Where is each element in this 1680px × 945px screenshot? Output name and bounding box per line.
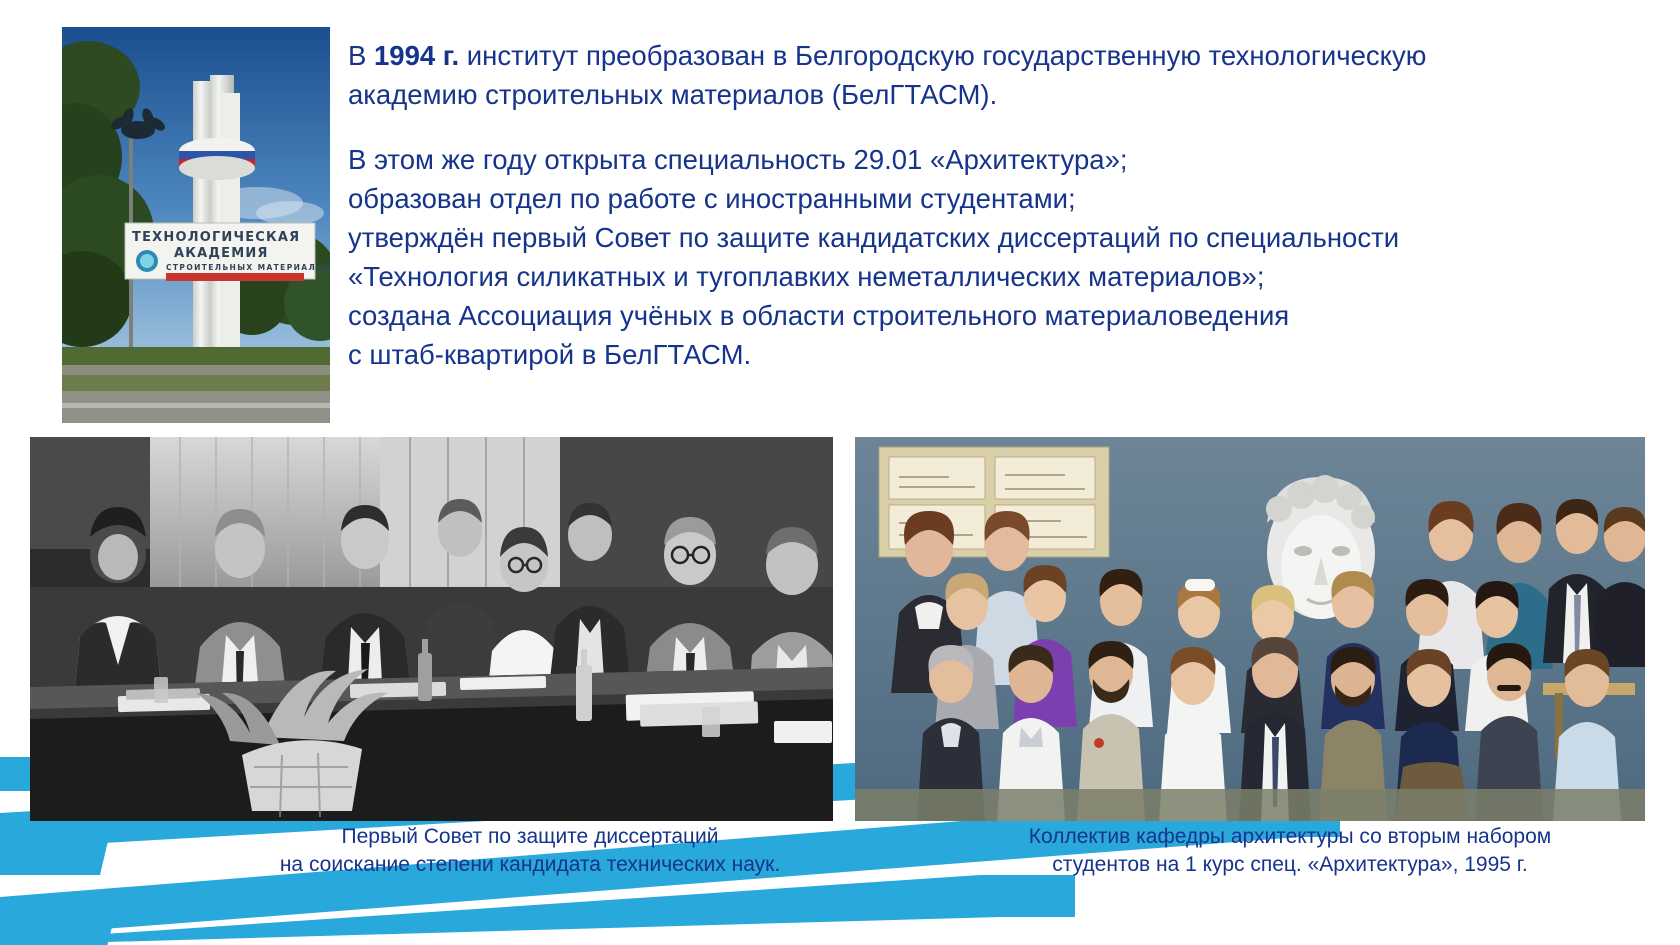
- photo-faculty: [855, 437, 1645, 821]
- ribbon-stub-3: [0, 927, 112, 945]
- caption-faculty-line-2: студентов на 1 курс спец. «Архитектура»,…: [940, 851, 1640, 879]
- caption-council-line-2: на соискание степени кандидата техническ…: [220, 851, 840, 879]
- caption-photo-council: Первый Совет по защите диссертаций на со…: [220, 823, 840, 879]
- paragraph-2-line-3: утверждён первый Совет по защите кандида…: [348, 218, 1648, 257]
- paragraph-1-line-1-rest: институт преобразован в Белгородскую гос…: [459, 40, 1426, 71]
- caption-council-line-1: Первый Совет по защите диссертаций: [220, 823, 840, 851]
- svg-text:АКАДЕМИЯ: АКАДЕМИЯ: [174, 246, 269, 261]
- caption-photo-faculty: Коллектив кафедры архитектуры со вторым …: [940, 823, 1640, 879]
- paragraph-1-prefix: В: [348, 40, 374, 71]
- svg-text:СТРОИТЕЛЬНЫХ МАТЕРИАЛОВ: СТРОИТЕЛЬНЫХ МАТЕРИАЛОВ: [166, 263, 330, 272]
- paragraph-2-line-1: В этом же году открыта специальность 29.…: [348, 140, 1648, 179]
- slide-body-text: В 1994 г. институт преобразован в Белгор…: [348, 36, 1648, 374]
- paragraph-2: В этом же году открыта специальность 29.…: [348, 140, 1648, 374]
- photo-monument: ТЕХНОЛОГИЧЕСКАЯ АКАДЕМИЯ СТРОИТЕЛЬНЫХ МА…: [62, 27, 330, 423]
- photo-council: [30, 437, 833, 821]
- ribbon-stub-2: [0, 841, 108, 875]
- paragraph-2-line-5: создана Ассоциация учёных в области стро…: [348, 296, 1648, 335]
- year-highlight: 1994 г.: [374, 40, 459, 71]
- paragraph-1-line-1: В 1994 г. институт преобразован в Белгор…: [348, 36, 1648, 75]
- paragraph-2-line-4: «Технология силикатных и тугоплавких нем…: [348, 257, 1648, 296]
- caption-faculty-line-1: Коллектив кафедры архитектуры со вторым …: [940, 823, 1640, 851]
- paragraph-1-line-2: академию строительных материалов (БелГТА…: [348, 75, 1648, 114]
- paragraph-2-line-2: образован отдел по работе с иностранными…: [348, 179, 1648, 218]
- svg-text:ТЕХНОЛОГИЧЕСКАЯ: ТЕХНОЛОГИЧЕСКАЯ: [132, 230, 300, 245]
- ribbon-diagonal-3: [0, 875, 1075, 945]
- paragraph-2-line-6: с штаб-квартирой в БелГТАСМ.: [348, 335, 1648, 374]
- paragraph-1: В 1994 г. институт преобразован в Белгор…: [348, 36, 1648, 114]
